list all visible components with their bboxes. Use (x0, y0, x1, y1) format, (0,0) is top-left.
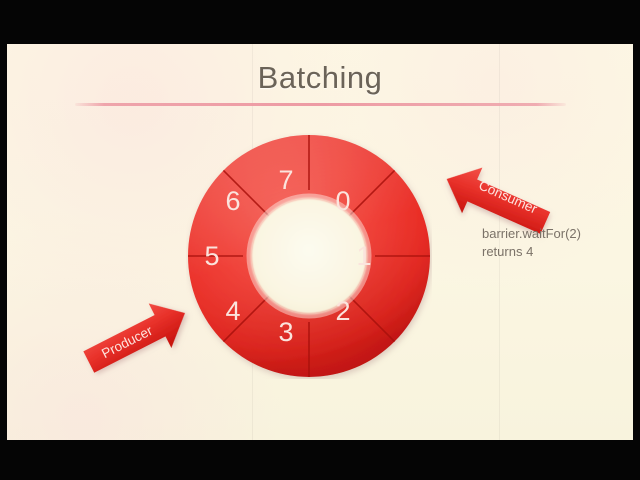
video-frame: Batching (0, 0, 640, 480)
barrier-annotation-line-2: returns 4 (482, 243, 632, 261)
ring-buffer-diagram: 0 1 2 3 4 5 6 7 (186, 133, 432, 379)
barrier-annotation-line-1: barrier.waitFor(2) (482, 225, 632, 243)
ring-segment-label-1: 1 (356, 241, 371, 271)
ring-segment-label-5: 5 (204, 241, 219, 271)
page-title: Batching (7, 60, 633, 96)
ring-buffer-svg: 0 1 2 3 4 5 6 7 (186, 133, 432, 379)
ring-segment-label-0: 0 (335, 186, 350, 216)
presentation-slide: Batching (7, 44, 633, 440)
ring-segment-label-7: 7 (278, 165, 293, 195)
title-underline-rule (75, 103, 566, 106)
ring-segment-label-4: 4 (225, 296, 240, 326)
ring-segment-label-3: 3 (278, 317, 293, 347)
ring-segment-label-2: 2 (335, 296, 350, 326)
producer-arrow: Producer (75, 302, 197, 374)
barrier-annotation: barrier.waitFor(2) returns 4 (482, 225, 632, 261)
ring-segment-label-6: 6 (225, 186, 240, 216)
